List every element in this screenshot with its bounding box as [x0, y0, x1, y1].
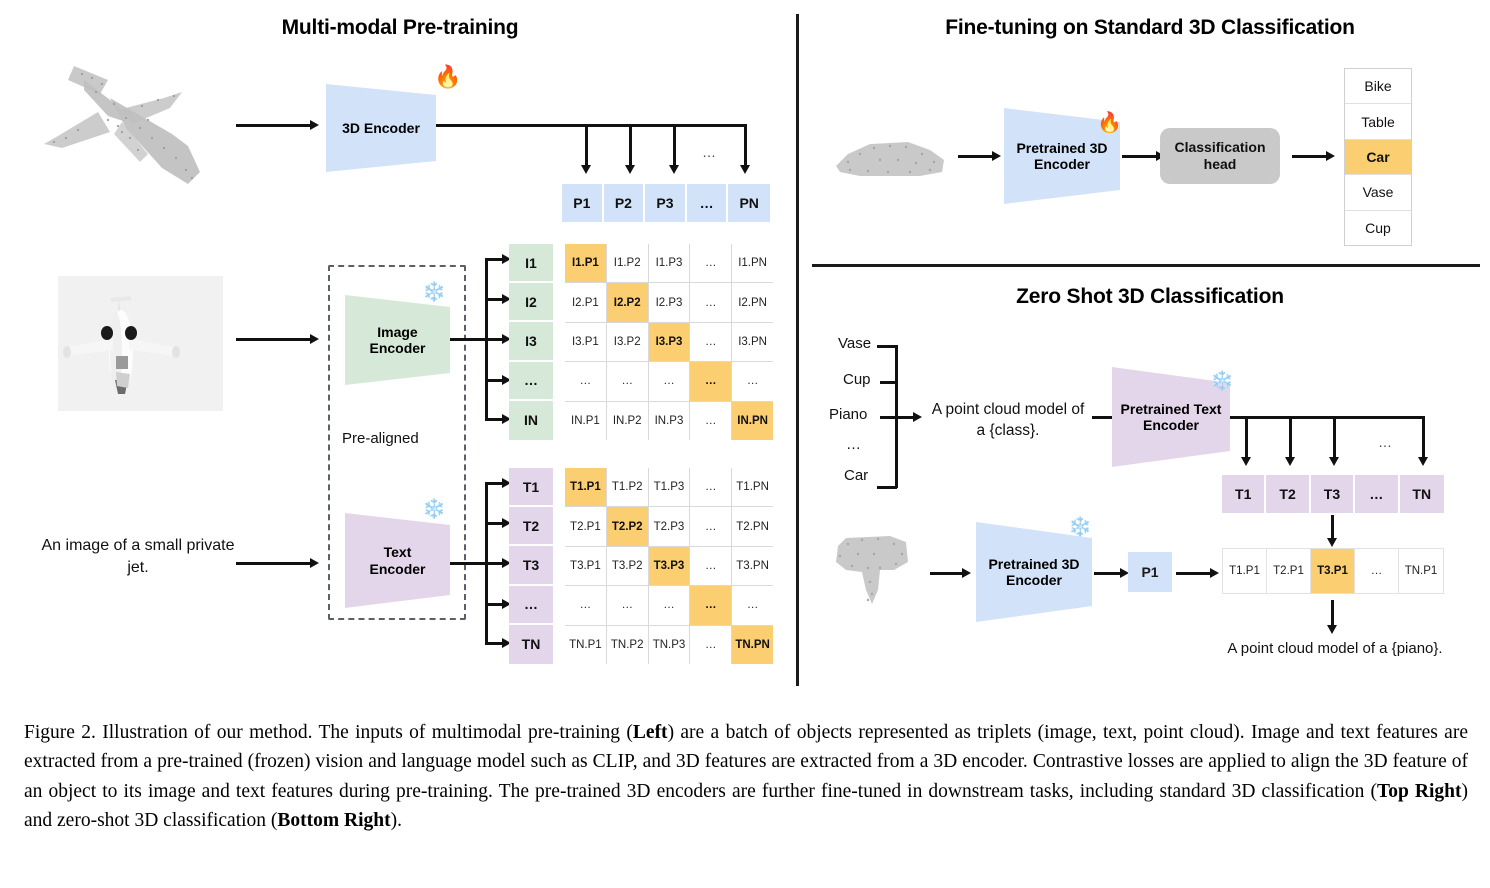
- arrowhead-piano-to-encoder: [962, 568, 971, 578]
- matrix-cell: …: [690, 586, 731, 624]
- p-token-strip: P1 P2 P3 … PN: [562, 184, 770, 222]
- prompt-template-text: A point cloud model of a {class}.: [922, 400, 1094, 442]
- t-token-strip-zeroshot: T1 T2 T3 … TN: [1222, 475, 1444, 513]
- input-text-caption: An image of a small private jet.: [38, 535, 238, 578]
- matrix-cell: T2.PN: [732, 507, 773, 545]
- arrow-line-image-to-imageencoder: [236, 338, 314, 341]
- zeroshot-class-name[interactable]: Cup: [843, 371, 871, 388]
- i-token[interactable]: I1: [509, 244, 553, 283]
- matrix-cell: T3.P1: [565, 547, 606, 585]
- snowflake-icon-text-encoder-zeroshot: ❄️: [1210, 372, 1234, 391]
- class-prediction-list: BikeTableCarVaseCup: [1344, 68, 1412, 246]
- arrowhead-pointcloud-to-3dencoder: [310, 120, 319, 130]
- matrix-cell: …: [690, 362, 731, 400]
- matrix-cell: TN.P2: [607, 626, 648, 664]
- snowflake-icon-image-encoder: ❄️: [422, 283, 446, 302]
- arrowhead-image-to-imageencoder: [310, 334, 319, 344]
- t-token[interactable]: T2: [509, 507, 553, 546]
- arrowhead-t1-zs: [1241, 457, 1251, 466]
- matrix-cell: …: [732, 362, 773, 400]
- matrix-cell: …: [690, 468, 731, 506]
- zeroshot-class-name[interactable]: Car: [844, 467, 868, 484]
- matrix-cell: T3.P2: [607, 547, 648, 585]
- classification-head-label: Classification head: [1174, 139, 1265, 173]
- image-encoder-box[interactable]: Image Encoder: [345, 295, 450, 385]
- arrowhead-p1: [581, 165, 591, 174]
- matrix-cell: T1.P3: [649, 468, 690, 506]
- arrow-line-pointcloud-to-3dencoder: [236, 124, 314, 127]
- matrix-cell: IN.PN: [732, 402, 773, 440]
- arrowhead-p3: [669, 165, 679, 174]
- zeroshot-score-row: T1.P1T2.P1T3.P1…TN.P1: [1222, 548, 1444, 594]
- t-token-strip: T1 T2 T3 … TN: [509, 468, 553, 664]
- matrix-cell: I2.P2: [607, 283, 648, 321]
- zeroshot-class-name[interactable]: Piano: [829, 406, 867, 423]
- figure-caption: Figure 2. Illustration of our method. Th…: [24, 718, 1468, 835]
- matrix-cell: IN.P3: [649, 402, 690, 440]
- class-list-item[interactable]: Cup: [1345, 211, 1411, 245]
- class-bracket-tick-car: [877, 486, 897, 489]
- fanout-dots-t-zs: …: [1378, 434, 1392, 450]
- airplane-rendered-image: [58, 276, 223, 411]
- t-token[interactable]: …: [509, 586, 553, 625]
- matrix-cell: …: [649, 586, 690, 624]
- fanout-branch-tn-zs: [1422, 416, 1425, 460]
- fanout-branch-t3-zs: [1333, 416, 1336, 460]
- pretrained-3d-encoder-label-finetune: Pretrained 3D Encoder: [1016, 140, 1107, 172]
- score-cell: T3.P1: [1311, 549, 1355, 593]
- zeroshot-class-name: …: [846, 436, 861, 453]
- t-token[interactable]: T1: [509, 468, 553, 507]
- t-token-zs[interactable]: …: [1355, 475, 1399, 513]
- matrix-cell: …: [690, 547, 731, 585]
- arrow-line-scorerow-to-result: [1331, 600, 1334, 628]
- panel-title-bottom-right: Zero Shot 3D Classification: [860, 285, 1440, 309]
- score-cell: TN.P1: [1399, 549, 1443, 593]
- arrow-line-text-to-textencoder: [236, 562, 314, 565]
- matrix-cell: I3.P1: [565, 323, 606, 361]
- piano-point-cloud: [828, 528, 923, 613]
- arrowhead-pn: [740, 165, 750, 174]
- image-point-similarity-matrix: I1.P1I1.P2I1.P3…I1.PNI2.P1I2.P2I2.P3…I2.…: [565, 244, 773, 440]
- arrow-line-encoder-to-head: [1122, 155, 1160, 158]
- fanout-branch-p2: [629, 124, 632, 168]
- text-point-similarity-matrix: T1.P1T1.P2T1.P3…T1.PNT2.P1T2.P2T2.P3…T2.…: [565, 468, 773, 664]
- score-cell: T1.P1: [1223, 549, 1267, 593]
- matrix-cell: T2.P3: [649, 507, 690, 545]
- arrowhead-t3-zs: [1329, 457, 1339, 466]
- text-encoder-box[interactable]: Text Encoder: [345, 513, 450, 608]
- class-bracket-tick-vase: [877, 345, 897, 348]
- arrowhead-car-to-encoder: [992, 151, 1001, 161]
- matrix-cell: I1.P2: [607, 244, 648, 282]
- matrix-cell: T1.P1: [565, 468, 606, 506]
- i-token[interactable]: …: [509, 362, 553, 401]
- fanout-branch-p3: [673, 124, 676, 168]
- pretrained-text-encoder-label: Pretrained Text Encoder: [1121, 401, 1222, 433]
- arrow-line-car-to-encoder: [958, 155, 996, 158]
- matrix-cell: …: [690, 283, 731, 321]
- fanout-line-image-horizontal: [450, 338, 485, 341]
- t-token-zs[interactable]: T3: [1311, 475, 1355, 513]
- arrowhead-p1-to-scorerow: [1210, 568, 1219, 578]
- image-encoder-label: Image Encoder: [369, 324, 425, 356]
- matrix-cell: …: [565, 362, 606, 400]
- p-token[interactable]: P1: [562, 184, 604, 222]
- score-cell: …: [1355, 549, 1399, 593]
- i-token[interactable]: I2: [509, 283, 553, 322]
- matrix-cell: TN.P1: [565, 626, 606, 664]
- matrix-cell: TN.P3: [649, 626, 690, 664]
- matrix-cell: IN.P1: [565, 402, 606, 440]
- fire-icon-finetune: 🔥: [1097, 113, 1122, 133]
- pretrained-3d-encoder-label-zeroshot: Pretrained 3D Encoder: [988, 556, 1079, 588]
- matrix-cell: IN.P2: [607, 402, 648, 440]
- fanout-line-3d-horizontal: [436, 124, 746, 127]
- zeroshot-class-name-list: Vase Cup Piano … Car: [826, 335, 906, 480]
- matrix-cell: …: [690, 626, 731, 664]
- class-bracket-tick-cup: [880, 381, 897, 384]
- i-token-strip: I1 I2 I3 … IN: [509, 244, 553, 440]
- prealigned-label: Pre-aligned: [342, 430, 419, 447]
- arrowhead-tn-zs: [1418, 457, 1428, 466]
- matrix-cell: I2.P3: [649, 283, 690, 321]
- figure-canvas: Multi-modal Pre-training Fine-tuning on …: [0, 0, 1490, 710]
- matrix-cell: I1.PN: [732, 244, 773, 282]
- matrix-cell: T3.P3: [649, 547, 690, 585]
- zeroshot-class-name[interactable]: Vase: [838, 335, 871, 352]
- panel-divider-vertical: [796, 14, 799, 686]
- p-token[interactable]: P3: [645, 184, 687, 222]
- panel-title-top-right: Fine-tuning on Standard 3D Classificatio…: [860, 16, 1440, 40]
- matrix-cell: I1.P1: [565, 244, 606, 282]
- matrix-cell: I3.PN: [732, 323, 773, 361]
- p1-token-zeroshot[interactable]: P1: [1128, 552, 1172, 592]
- car-point-cloud: [830, 128, 950, 190]
- matrix-cell: …: [649, 362, 690, 400]
- arrow-line-head-to-classes: [1292, 155, 1330, 158]
- class-list-item[interactable]: Table: [1345, 104, 1411, 139]
- p-token[interactable]: …: [687, 184, 729, 222]
- matrix-cell: …: [690, 323, 731, 361]
- t-token-zs[interactable]: T2: [1266, 475, 1310, 513]
- fanout-branch-t2-zs: [1289, 416, 1292, 460]
- t-token-zs[interactable]: T1: [1222, 475, 1266, 513]
- t-token[interactable]: T3: [509, 546, 553, 585]
- matrix-cell: I3.P3: [649, 323, 690, 361]
- panel-divider-horizontal: [812, 264, 1480, 267]
- i-token[interactable]: I3: [509, 322, 553, 361]
- class-list-item[interactable]: Bike: [1345, 69, 1411, 104]
- matrix-cell: …: [607, 362, 648, 400]
- arrowhead-scorerow-to-result: [1327, 625, 1337, 634]
- arrowhead-p2: [625, 165, 635, 174]
- fanout-branch-pn: [744, 124, 747, 168]
- fanout-branch-p1: [585, 124, 588, 168]
- matrix-cell: T2.P2: [607, 507, 648, 545]
- matrix-cell: …: [732, 586, 773, 624]
- matrix-cell: …: [607, 586, 648, 624]
- matrix-cell: I1.P3: [649, 244, 690, 282]
- fire-icon-pretrain: 🔥: [434, 66, 461, 88]
- arrow-line-piano-to-encoder: [930, 572, 966, 575]
- matrix-cell: T1.P2: [607, 468, 648, 506]
- arrowhead-t2-zs: [1285, 457, 1295, 466]
- arrowhead-head-to-classes: [1326, 151, 1335, 161]
- fanout-line-textencoder-zeroshot: [1230, 416, 1424, 419]
- matrix-cell: …: [690, 244, 731, 282]
- score-cell: T2.P1: [1267, 549, 1311, 593]
- matrix-cell: …: [690, 402, 731, 440]
- text-encoder-label: Text Encoder: [369, 544, 425, 576]
- i-token[interactable]: IN: [509, 401, 553, 440]
- matrix-cell: T2.P1: [565, 507, 606, 545]
- fanout-dots-p: …: [702, 144, 716, 160]
- snowflake-icon-3d-encoder-zeroshot: ❄️: [1068, 518, 1092, 537]
- encoder-3d-label: 3D Encoder: [342, 120, 420, 136]
- classification-head-box[interactable]: Classification head: [1160, 128, 1280, 184]
- matrix-cell: TN.PN: [732, 626, 773, 664]
- matrix-cell: T3.PN: [732, 547, 773, 585]
- matrix-cell: I2.PN: [732, 283, 773, 321]
- arrow-line-p1-to-scorerow: [1176, 572, 1214, 575]
- arrowhead-classes-to-prompt: [913, 412, 922, 422]
- matrix-cell: I2.P1: [565, 283, 606, 321]
- matrix-cell: …: [690, 507, 731, 545]
- panel-title-left: Multi-modal Pre-training: [200, 16, 600, 40]
- matrix-cell: …: [565, 586, 606, 624]
- t-token[interactable]: TN: [509, 625, 553, 664]
- t-token-zs[interactable]: TN: [1400, 475, 1444, 513]
- arrowhead-text-to-textencoder: [310, 558, 319, 568]
- matrix-cell: T1.PN: [732, 468, 773, 506]
- fanout-line-text-horizontal: [450, 562, 485, 565]
- p-token[interactable]: PN: [728, 184, 770, 222]
- class-list-item[interactable]: Vase: [1345, 175, 1411, 210]
- airplane-point-cloud: [22, 50, 222, 210]
- encoder-3d-box[interactable]: 3D Encoder: [326, 84, 436, 172]
- matrix-cell: I3.P2: [607, 323, 648, 361]
- zeroshot-result-text: A point cloud model of a {piano}.: [1190, 640, 1480, 657]
- p-token[interactable]: P2: [604, 184, 646, 222]
- snowflake-icon-text-encoder: ❄️: [422, 500, 446, 519]
- fanout-branch-t1-zs: [1245, 416, 1248, 460]
- class-list-item[interactable]: Car: [1345, 140, 1411, 175]
- arrowhead-ttokens-to-scorerow: [1327, 538, 1337, 547]
